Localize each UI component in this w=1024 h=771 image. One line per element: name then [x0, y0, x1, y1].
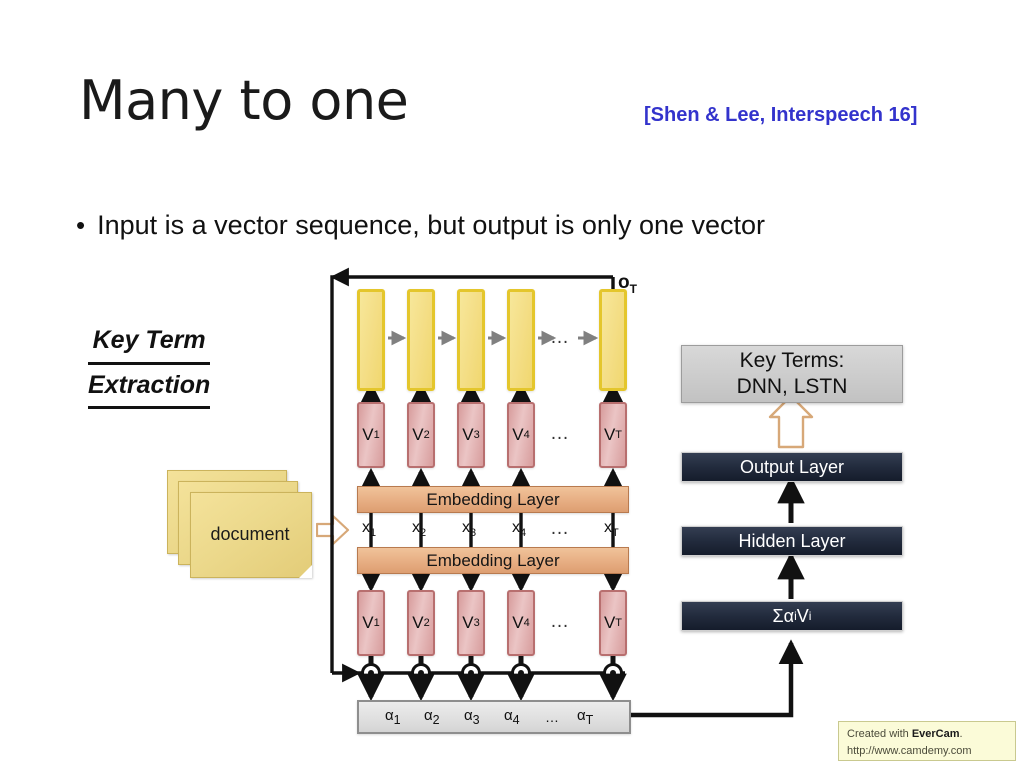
- vector-bottom-t: VT: [599, 590, 627, 656]
- vector-top-ellipsis: …: [550, 423, 570, 445]
- page-title: Many to one: [79, 74, 408, 128]
- vector-top-2: V2: [407, 402, 435, 468]
- vector-top-t: VT: [599, 402, 627, 468]
- evercam-prefix: Created with: [847, 728, 912, 740]
- evercam-brand: EverCam: [912, 728, 960, 740]
- key-terms-result-box: Key Terms: DNN, LSTN: [681, 345, 903, 403]
- vector-top-3: V3: [457, 402, 485, 468]
- vector-bottom-4: V4: [507, 590, 535, 656]
- rnn-cell-4: [507, 289, 535, 391]
- citation-reference: [Shen & Lee, Interspeech 16]: [644, 104, 917, 127]
- output-ot-base: o: [618, 272, 630, 293]
- vector-bottom-1: V1: [357, 590, 385, 656]
- embedding-layer-upper: Embedding Layer: [357, 486, 629, 513]
- vector-bottom-2: V2: [407, 590, 435, 656]
- x-label-1: x1: [362, 519, 376, 539]
- key-terms-title: Key Terms:: [740, 348, 845, 374]
- vector-bottom-3: V3: [457, 590, 485, 656]
- key-term-line-1: Key Term: [88, 320, 210, 365]
- alpha-label-t: αT: [577, 707, 593, 727]
- output-layer-block: Output Layer: [681, 452, 903, 482]
- vector-bottom-ellipsis: …: [550, 611, 570, 633]
- evercam-line-1: Created with EverCam.: [847, 726, 1007, 743]
- x-label-2: x2: [412, 519, 426, 539]
- weighted-sum-block: ΣαiVi: [681, 601, 903, 631]
- bullet-text: Input is a vector sequence, but output i…: [97, 210, 765, 241]
- weighted-sum-mid: V: [797, 606, 809, 627]
- output-ot-label: oT: [618, 272, 637, 296]
- x-label-4: x4: [512, 519, 526, 539]
- rnn-cell-3: [457, 289, 485, 391]
- document-label: document: [190, 492, 310, 576]
- rnn-cell-ellipsis: …: [550, 327, 570, 349]
- embedding-layer-lower: Embedding Layer: [357, 547, 629, 574]
- alpha-label-ellipsis: …: [545, 709, 559, 725]
- output-ot-sub: T: [630, 282, 637, 296]
- attention-weights-bar: α1 α2 α3 α4 … αT: [357, 700, 631, 734]
- alpha-label-2: α2: [424, 707, 440, 727]
- alpha-label-4: α4: [504, 707, 520, 727]
- key-term-line-2: Extraction: [88, 365, 210, 410]
- document-input-arrow-icon: [316, 513, 350, 547]
- x-label-3: x3: [462, 519, 476, 539]
- key-terms-value: DNN, LSTN: [737, 374, 848, 400]
- vector-top-4: V4: [507, 402, 535, 468]
- document-stack: document: [167, 470, 317, 580]
- slide-canvas: Many to one [Shen & Lee, Interspeech 16]…: [0, 0, 1024, 771]
- evercam-url: http://www.camdemy.com: [847, 743, 1007, 760]
- evercam-suffix: .: [960, 728, 963, 740]
- rnn-cell-t: [599, 289, 627, 391]
- weighted-sum-sub2: i: [809, 609, 812, 623]
- bullet-marker-icon: •: [76, 212, 85, 238]
- hidden-layer-block: Hidden Layer: [681, 526, 903, 556]
- x-label-t: xT: [604, 519, 619, 539]
- alpha-label-3: α3: [464, 707, 480, 727]
- rnn-cell-2: [407, 289, 435, 391]
- alpha-label-1: α1: [385, 707, 401, 727]
- weighted-sum-base: Σα: [773, 606, 795, 627]
- evercam-watermark: Created with EverCam. http://www.camdemy…: [838, 721, 1016, 761]
- bullet-row: • Input is a vector sequence, but output…: [76, 210, 765, 241]
- x-label-ellipsis: …: [550, 518, 570, 540]
- key-term-extraction-caption: Key Term Extraction: [88, 320, 210, 409]
- vector-top-1: V1: [357, 402, 385, 468]
- rnn-cell-1: [357, 289, 385, 391]
